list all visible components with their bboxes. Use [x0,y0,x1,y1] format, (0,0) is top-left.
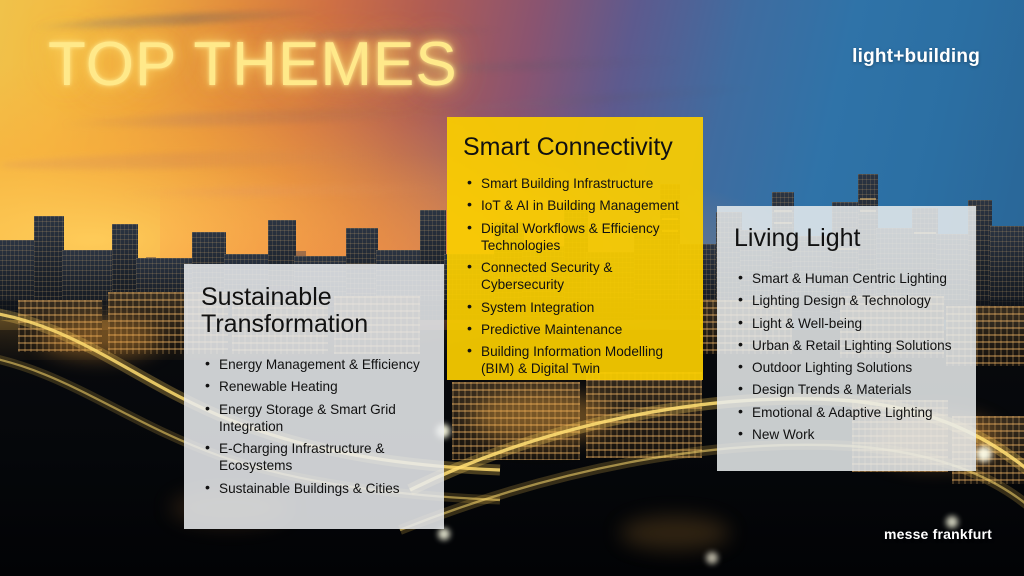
theme-list-item: Smart Building Infrastructure [467,175,691,192]
street-lamp [976,446,992,462]
theme-card-heading: Smart Connectivity [463,134,703,161]
theme-list-item: System Integration [467,299,691,316]
slide-root: TOP THEMES light+building messe frankfur… [0,0,1024,576]
theme-list-item: Building Information Modelling (BIM) & D… [467,343,691,378]
theme-card-smart-connectivity[interactable]: Smart Connectivity Smart Building Infras… [447,117,703,380]
theme-card-list: Energy Management & EfficiencyRenewable … [205,356,428,497]
theme-list-item: Light & Well-being [738,315,966,332]
theme-list-item: Emotional & Adaptive Lighting [738,404,966,421]
street-lamp [706,552,718,564]
theme-list-item: Urban & Retail Lighting Solutions [738,337,966,354]
light-building-logo: light+building [852,46,980,68]
theme-list-item: Energy Management & Efficiency [205,356,428,373]
theme-card-living-light[interactable]: Living Light Smart & Human Centric Light… [717,206,976,471]
messe-frankfurt-logo: messe frankfurt [884,526,992,542]
street-lamp [438,528,450,540]
theme-list-item: Smart & Human Centric Lighting [738,270,966,287]
theme-list-item: Sustainable Buildings & Cities [205,480,428,497]
theme-card-heading: Sustainable Transformation [201,284,444,338]
theme-list-item: Lighting Design & Technology [738,292,966,309]
theme-list-item: Design Trends & Materials [738,381,966,398]
page-title: TOP THEMES [48,34,458,96]
theme-card-list: Smart & Human Centric LightingLighting D… [738,270,966,443]
theme-list-item: E-Charging Infrastructure & Ecosystems [205,440,428,475]
theme-list-item: Outdoor Lighting Solutions [738,359,966,376]
theme-list-item: Digital Workflows & Efficiency Technolog… [467,220,691,255]
theme-list-item: Predictive Maintenance [467,321,691,338]
theme-list-item: Energy Storage & Smart Grid Integration [205,401,428,436]
theme-list-item: New Work [738,426,966,443]
theme-list-item: IoT & AI in Building Management [467,197,691,214]
theme-list-item: Connected Security & Cybersecurity [467,259,691,294]
theme-card-list: Smart Building InfrastructureIoT & AI in… [467,175,691,378]
theme-card-heading: Living Light [734,225,976,252]
theme-card-sustainable-transformation[interactable]: Sustainable Transformation Energy Manage… [184,264,444,529]
theme-list-item: Renewable Heating [205,378,428,395]
